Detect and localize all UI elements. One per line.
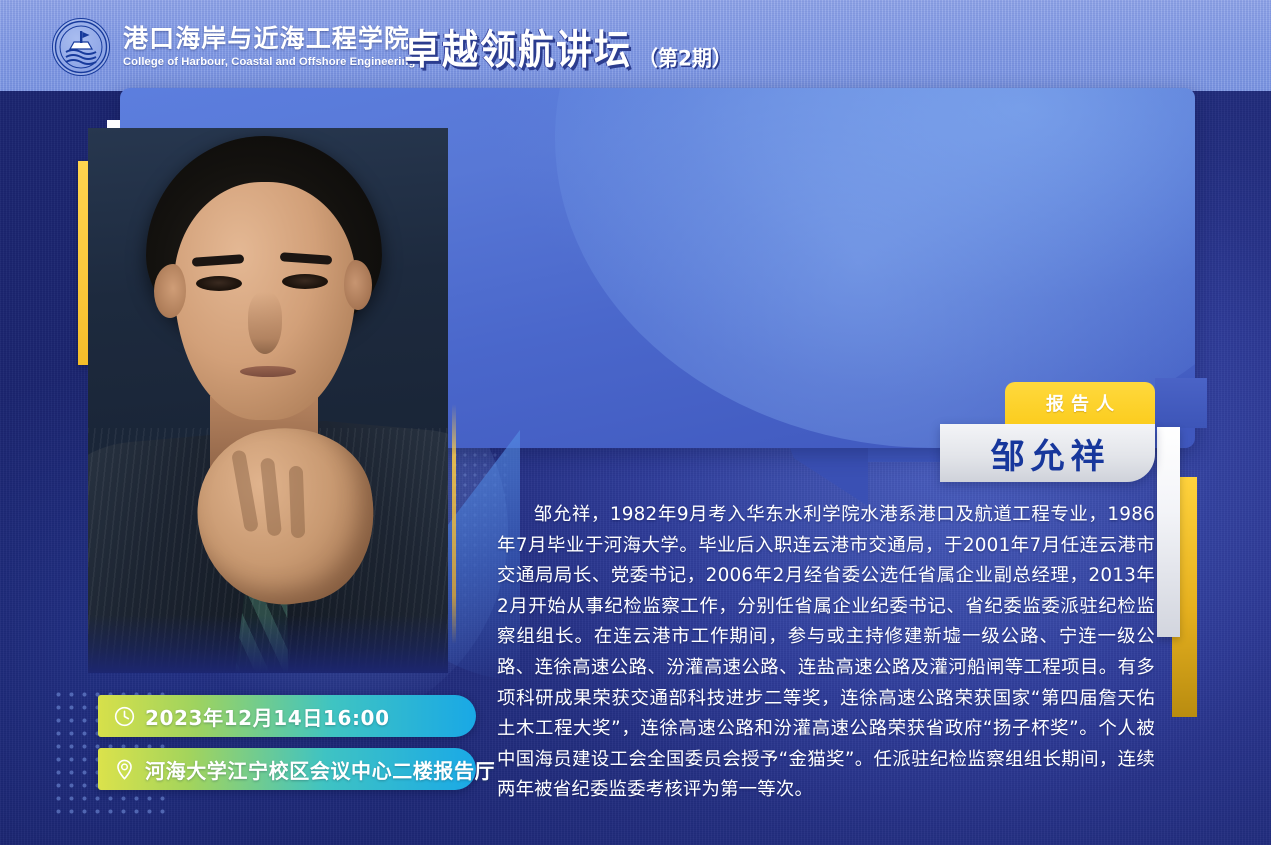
speaker-role-badge: 报告人: [1005, 382, 1155, 424]
speaker-role-label: 报告人: [1039, 390, 1121, 416]
university-crest-icon: [52, 18, 110, 76]
event-date-pill: 2023年12月14日16:00: [98, 695, 476, 737]
speaker-portrait-image: [88, 128, 448, 673]
forum-issue: （第2期）: [638, 41, 732, 71]
event-location-pill: 河海大学江宁校区会议中心二楼报告厅: [98, 748, 476, 790]
speaker-bio-text: 邹允祥，1982年9月考入华东水利学院水港系港口及航道工程专业，1986年7月毕…: [497, 500, 1155, 806]
speaker-photo: [88, 128, 448, 673]
portrait-bottom-fade: [88, 615, 448, 673]
school-name-block: 港口海岸与近海工程学院 College of Harbour, Coastal …: [123, 26, 415, 68]
decor-bar-white-right: [1157, 427, 1180, 637]
speaker-name: 邹允祥: [985, 429, 1111, 478]
portrait-nose: [248, 292, 282, 354]
portrait-eye-right: [282, 274, 328, 289]
portrait-finger-3: [289, 466, 306, 538]
event-location-text: 河海大学江宁校区会议中心二楼报告厅: [145, 755, 495, 784]
speaker-name-badge: 邹允祥: [940, 424, 1155, 482]
header-logo-row: 港口海岸与近海工程学院 College of Harbour, Coastal …: [52, 16, 415, 78]
clock-icon: [112, 704, 136, 728]
forum-title-block: 卓越领航讲坛 （第2期）: [404, 24, 732, 76]
location-pin-icon: [112, 757, 136, 781]
poster-root: 港口海岸与近海工程学院 College of Harbour, Coastal …: [0, 0, 1271, 845]
portrait-eye-left: [196, 276, 242, 291]
school-name-en: College of Harbour, Coastal and Offshore…: [123, 57, 415, 68]
event-date-text: 2023年12月14日16:00: [145, 702, 390, 731]
portrait-ear-left: [154, 264, 186, 318]
title-panel-tail: [790, 448, 960, 508]
portrait-ear-right: [344, 260, 372, 310]
school-name-cn: 港口海岸与近海工程学院: [123, 26, 415, 51]
forum-name: 卓越领航讲坛: [404, 18, 632, 76]
portrait-mouth: [240, 366, 296, 377]
decor-bar-blue-right: [1155, 378, 1207, 428]
